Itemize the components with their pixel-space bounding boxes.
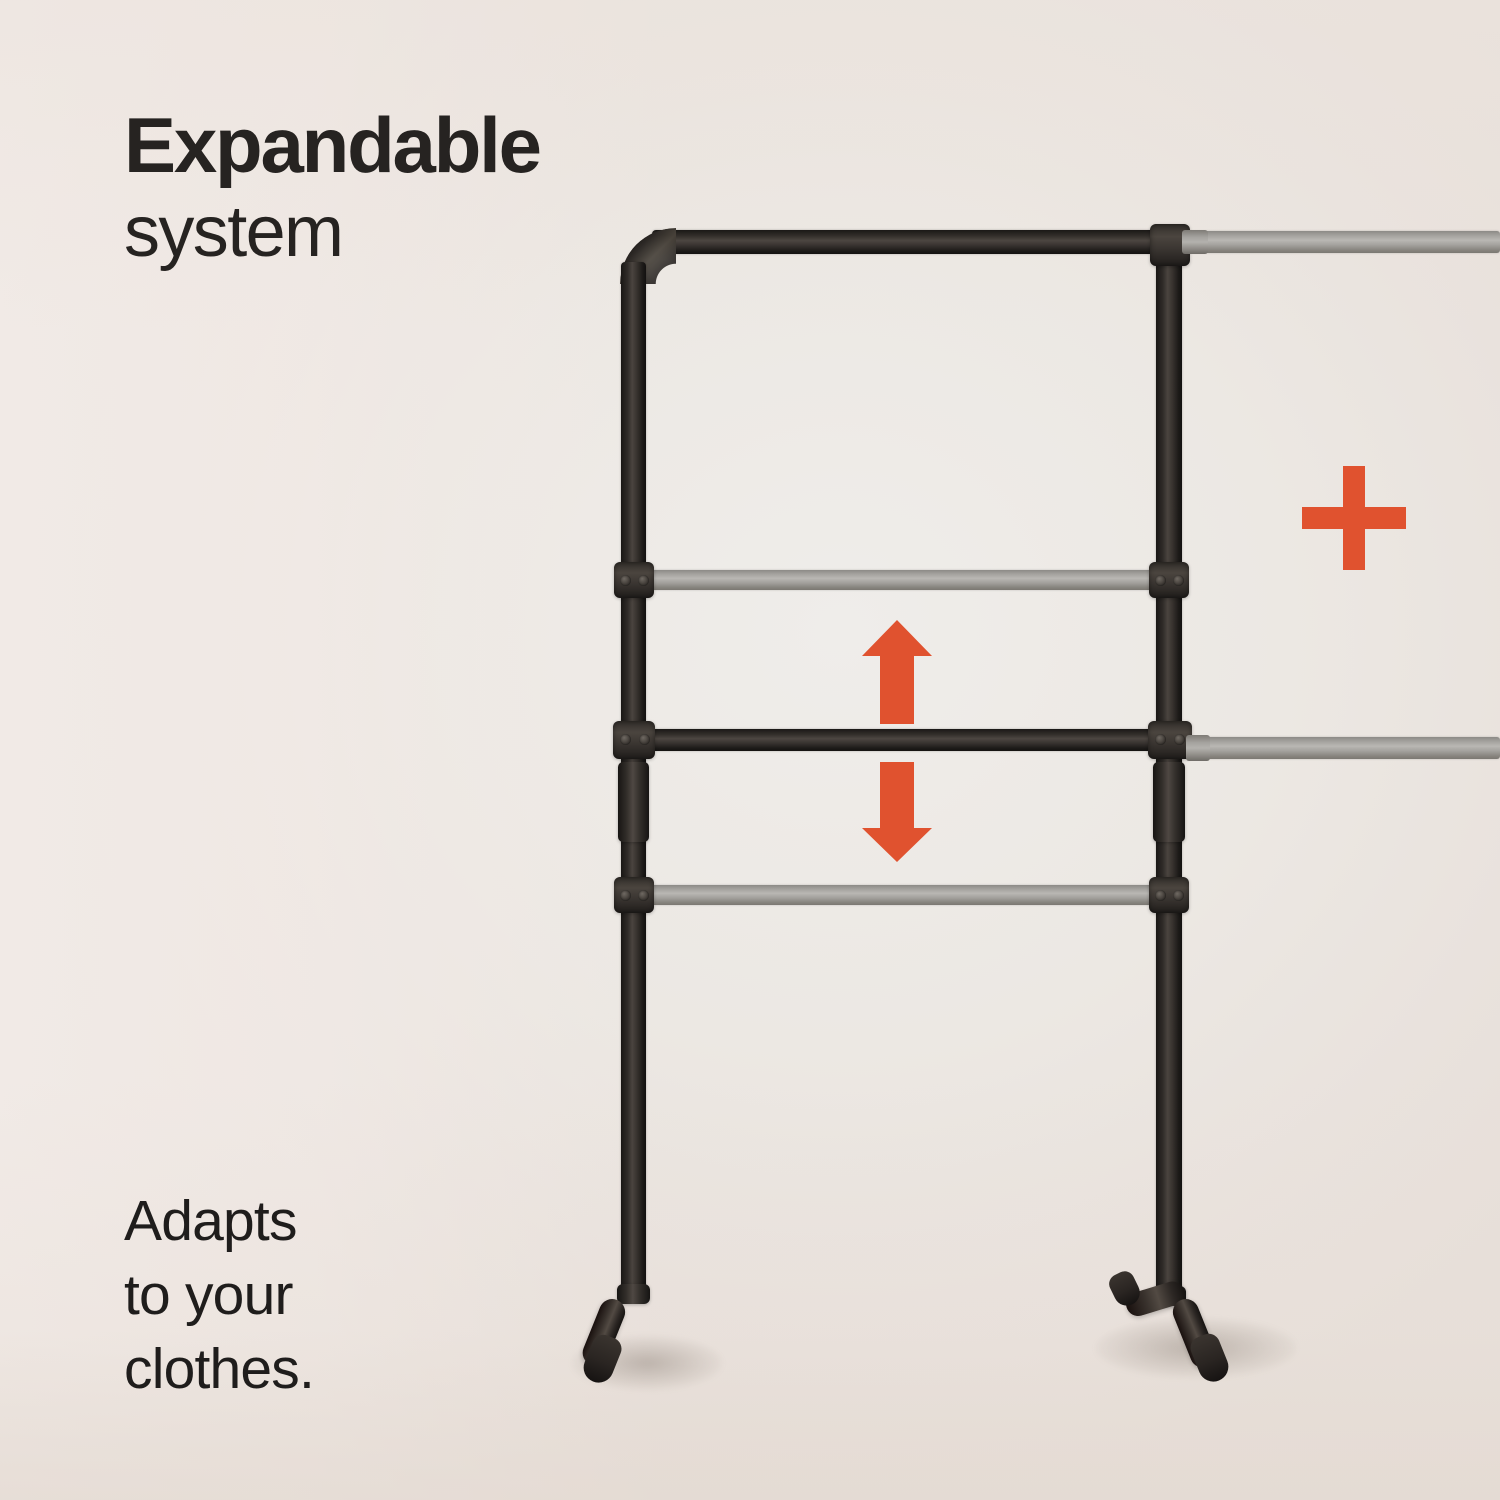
lower-rail-left-clamp-screw-b (638, 890, 649, 901)
height-adjust-up-arrow (862, 620, 932, 724)
middle-black-crossbar (646, 729, 1161, 751)
product-marketing-image: Expandable system Adapts to your clothes… (0, 0, 1500, 1500)
upper-rail-right-clamp-screw-a (1155, 575, 1166, 586)
middle-bar-right-screw-a (1155, 734, 1166, 745)
upper-rail-right-clamp-screw-b (1173, 575, 1184, 586)
right-post-adjust-sleeve (1153, 762, 1185, 842)
height-adjust-down-arrow (862, 762, 932, 862)
upper-rail-left-clamp-screw-b (638, 575, 649, 586)
subtext-line-2: to your (124, 1258, 544, 1332)
grey-extension-pipe-middle (1186, 737, 1500, 759)
lower-grey-hanging-rail (644, 885, 1159, 905)
subtext-line-3: clothes. (124, 1332, 544, 1406)
subtext-block: Adapts to your clothes. (124, 1184, 544, 1406)
top-black-rail (652, 230, 1172, 254)
grey-extension-pipe-top (1186, 231, 1500, 253)
expandable-plus-icon (1302, 466, 1406, 570)
upper-grey-hanging-rail (644, 570, 1159, 590)
upper-rail-left-clamp-screw-a (620, 575, 631, 586)
lower-rail-right-clamp-screw-a (1155, 890, 1166, 901)
subtext-line-1: Adapts (124, 1184, 544, 1258)
top-right-grey-collar (1182, 230, 1208, 254)
middle-bar-left-screw-a (620, 734, 631, 745)
lower-rail-left-clamp-screw-a (620, 890, 631, 901)
lower-rail-right-clamp-screw-b (1173, 890, 1184, 901)
middle-bar-left-screw-b (639, 734, 650, 745)
left-foot-collar (617, 1284, 650, 1304)
middle-bar-right-screw-b (1174, 734, 1185, 745)
middle-right-grey-collar (1186, 735, 1210, 761)
headline-line-1: Expandable (124, 106, 744, 184)
left-post-adjust-sleeve (618, 762, 649, 842)
